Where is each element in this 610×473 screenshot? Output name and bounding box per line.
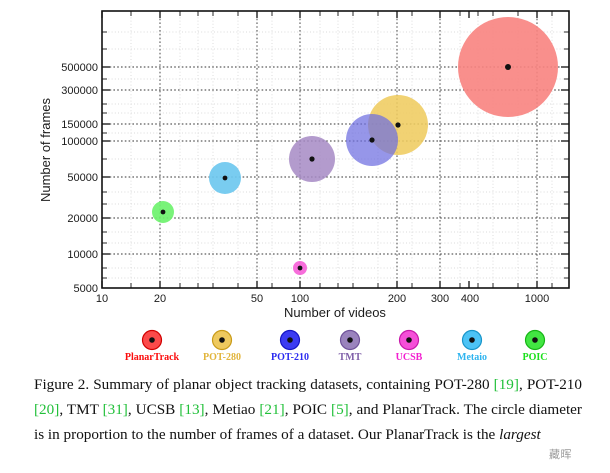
- caption-ref-19: [19]: [494, 376, 519, 393]
- caption-ref-31: [31]: [103, 401, 128, 418]
- y-tick-label-5000: 5000: [74, 283, 98, 295]
- caption-emphasis: largest: [499, 426, 541, 443]
- bubble-ucsb[interactable]: [293, 261, 307, 275]
- x-tick-label-400: 400: [461, 293, 479, 305]
- caption-segment-5: , Metiao: [205, 401, 260, 418]
- figure-2-container: 500000 300000 150000 100000 50000 20000 …: [0, 0, 610, 473]
- caption-segment-1: Figure 2. Summary of planar object track…: [34, 376, 494, 393]
- caption-segment-3: , TMT: [59, 401, 102, 418]
- bubble-pot-280-center: [395, 122, 400, 127]
- x-tick-label-300: 300: [431, 293, 449, 305]
- caption-segment-4: , UCSB: [128, 401, 179, 418]
- legend-item-pot-210[interactable]: POT-210: [271, 331, 309, 364]
- legend-item-planartrack[interactable]: PlanarTrack: [125, 331, 180, 364]
- caption-ref-13: [13]: [179, 401, 204, 418]
- legend-item-pot-280[interactable]: POT-280: [203, 331, 241, 364]
- legend-item-poic[interactable]: POIC: [523, 331, 548, 364]
- y-tick-label-500000: 500000: [61, 62, 98, 74]
- x-tick-label-20: 20: [154, 293, 166, 305]
- legend-label-planartrack: PlanarTrack: [125, 352, 180, 363]
- y-tick-label-100000: 100000: [61, 136, 98, 148]
- y-tick-label-10000: 10000: [67, 249, 98, 261]
- legend-item-metaio[interactable]: Metaio: [457, 331, 487, 364]
- watermark-text: 藏晖: [549, 446, 572, 462]
- x-axis-title: Number of videos: [284, 305, 386, 320]
- legend-label-poic: POIC: [523, 352, 548, 363]
- x-tick-label-50: 50: [251, 293, 263, 305]
- x-tick-label-200: 200: [388, 293, 406, 305]
- legend-label-metaio: Metaio: [457, 352, 487, 363]
- x-tick-label-1000: 1000: [525, 293, 549, 305]
- x-tick-label-10: 10: [96, 293, 108, 305]
- caption-ref-5: [5]: [331, 401, 349, 418]
- legend-label-tmt: TMT: [339, 352, 362, 363]
- y-tick-label-20000: 20000: [67, 213, 98, 225]
- legend-item-ucsb[interactable]: UCSB: [396, 331, 423, 364]
- legend-label-pot-210: POT-210: [271, 352, 309, 363]
- y-tick-label-300000: 300000: [61, 85, 98, 97]
- x-tick-label-100: 100: [291, 293, 309, 305]
- bubble-pot-210[interactable]: [346, 114, 398, 166]
- chart-legend: PlanarTrack POT-280 POT-210 TMT: [125, 331, 548, 364]
- y-tick-label-150000: 150000: [61, 119, 98, 131]
- bubble-tmt[interactable]: [289, 136, 335, 182]
- bubble-poic[interactable]: [152, 201, 174, 223]
- y-tick-label-50000: 50000: [67, 172, 98, 184]
- bubble-chart-svg: 500000 300000 150000 100000 50000 20000 …: [0, 0, 610, 370]
- caption-segment-6: , POIC: [285, 401, 331, 418]
- bubble-planartrack[interactable]: [458, 17, 558, 117]
- bubble-metaio[interactable]: [209, 162, 241, 194]
- legend-label-pot-280: POT-280: [203, 352, 241, 363]
- y-axis-title: Number of frames: [38, 97, 53, 202]
- caption-segment-2: , POT-210: [519, 376, 582, 393]
- caption-ref-20: [20]: [34, 401, 59, 418]
- caption-ref-21: [21]: [259, 401, 284, 418]
- bubble-chart: 500000 300000 150000 100000 50000 20000 …: [0, 0, 610, 370]
- legend-label-ucsb: UCSB: [396, 352, 423, 363]
- figure-caption: Figure 2. Summary of planar object track…: [34, 372, 582, 447]
- legend-item-tmt[interactable]: TMT: [339, 331, 362, 364]
